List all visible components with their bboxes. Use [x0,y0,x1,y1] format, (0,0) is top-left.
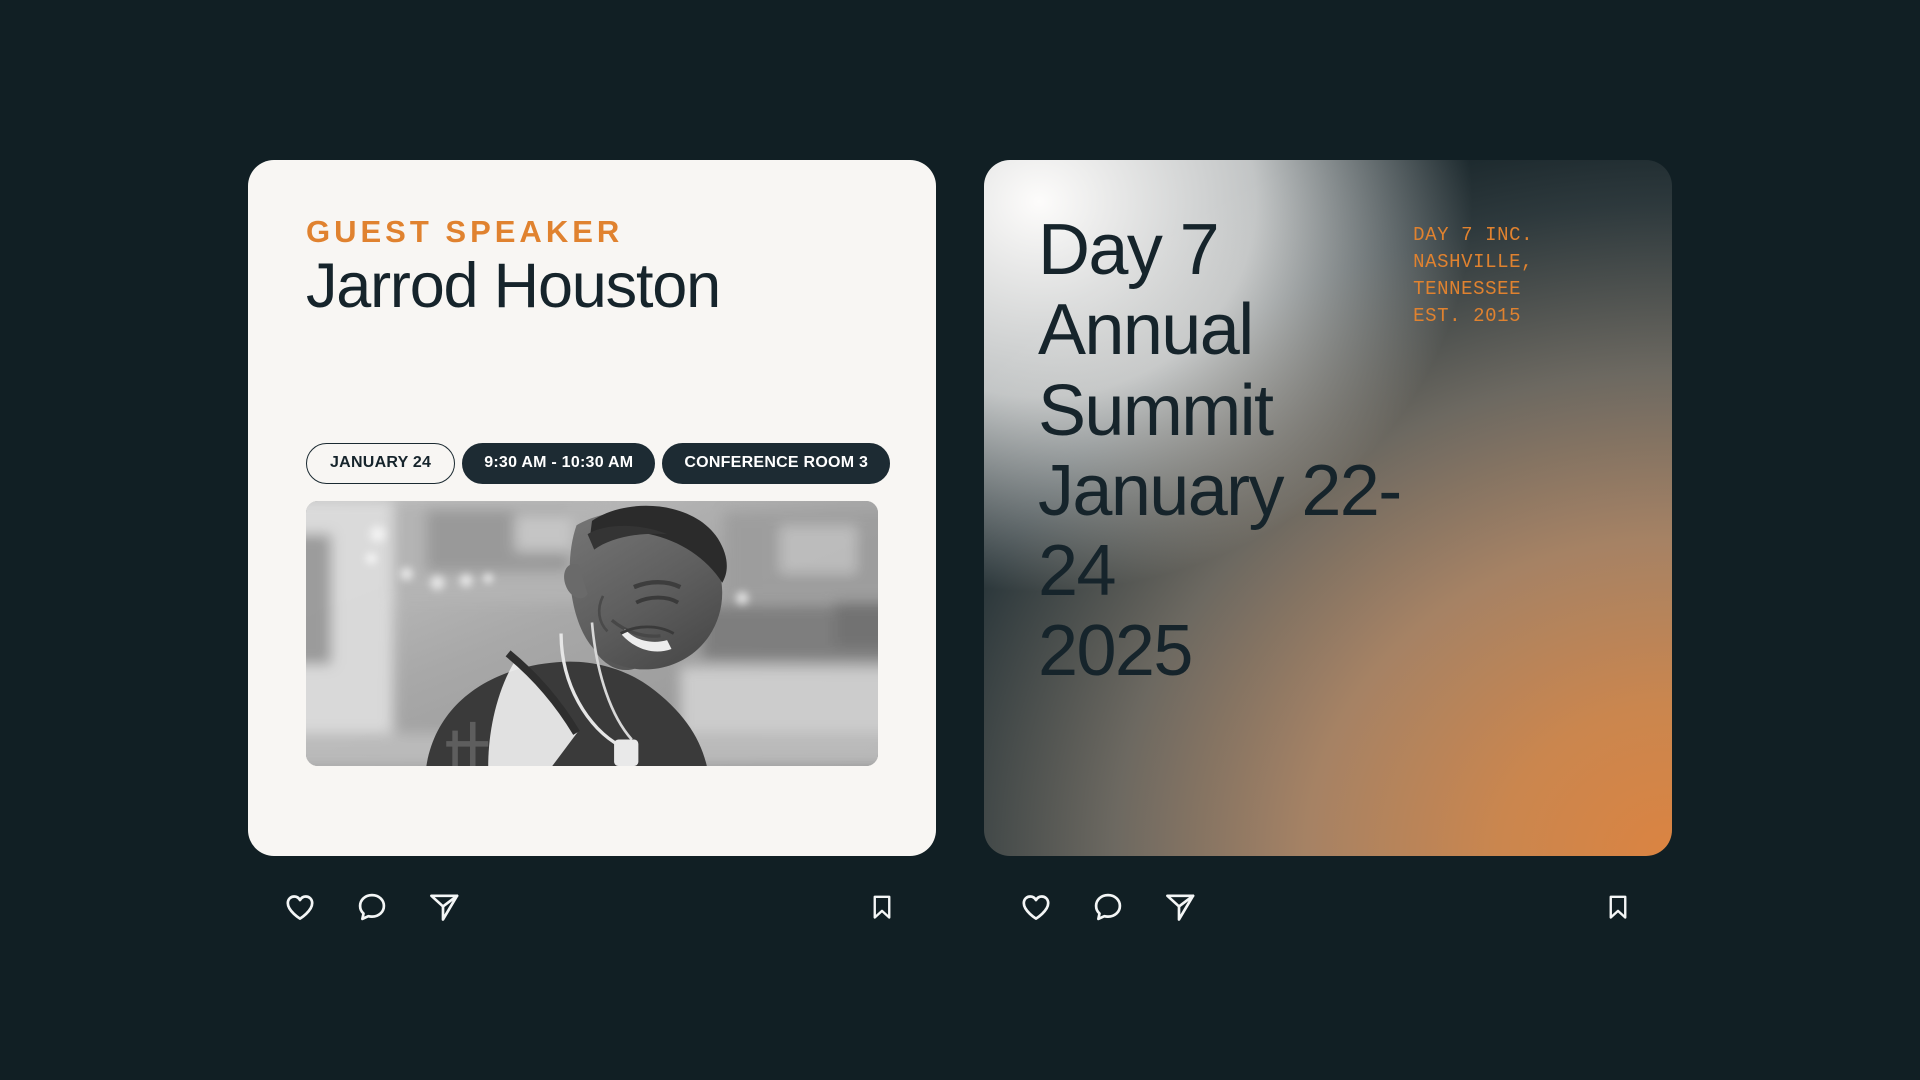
share-icon[interactable] [1158,885,1202,929]
bookmark-icon[interactable] [1596,885,1640,929]
summit-card[interactable]: Day 7 Annual Summit January 22-24 2025 D… [984,160,1672,856]
detail-pill-row: JANUARY 24 9:30 AM - 10:30 AM CONFERENCE… [306,443,878,484]
action-bar [984,879,1672,935]
action-bar [248,879,936,935]
comment-icon[interactable] [350,885,394,929]
bookmark-icon[interactable] [860,885,904,929]
post-grid: GUEST SPEAKER Jarrod Houston JANUARY 24 … [248,160,1672,935]
summit-header: Day 7 Annual Summit January 22-24 2025 D… [1038,210,1618,692]
pill-location[interactable]: CONFERENCE ROOM 3 [662,443,890,484]
post-guest-speaker: GUEST SPEAKER Jarrod Houston JANUARY 24 … [248,160,936,935]
pill-date[interactable]: JANUARY 24 [306,443,455,484]
speaker-photo [306,501,878,766]
speaker-name: Jarrod Houston [306,253,878,320]
action-bar-left [278,885,466,929]
post-annual-summit: Day 7 Annual Summit January 22-24 2025 D… [984,160,1672,935]
canvas: GUEST SPEAKER Jarrod Houston JANUARY 24 … [0,0,1920,1080]
comment-icon[interactable] [1086,885,1130,929]
speaker-card[interactable]: GUEST SPEAKER Jarrod Houston JANUARY 24 … [248,160,936,856]
pill-time[interactable]: 9:30 AM - 10:30 AM [462,443,655,484]
summit-title: Day 7 Annual Summit January 22-24 2025 [1038,210,1413,692]
action-bar-left [1014,885,1202,929]
like-icon[interactable] [278,885,322,929]
share-icon[interactable] [422,885,466,929]
eyebrow-label: GUEST SPEAKER [306,216,878,247]
like-icon[interactable] [1014,885,1058,929]
company-meta: DAY 7 INC. NASHVILLE, TENNESSEE EST. 201… [1413,222,1618,330]
